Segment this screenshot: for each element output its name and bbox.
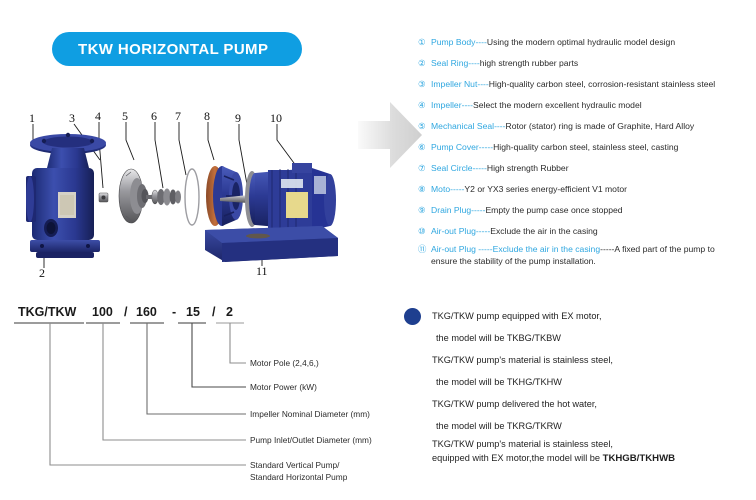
- code-label-motor-pole: Motor Pole (2,4,6,): [250, 358, 319, 368]
- part-separator: -----: [473, 159, 487, 177]
- part-description-blue: Exclude the air in the casing: [493, 244, 601, 254]
- callout-7: 7: [175, 109, 181, 123]
- impeller-nut-part: [99, 193, 108, 202]
- code-slash-1: /: [124, 305, 128, 319]
- part-row: ⑤ Mechanical Seal ---- Rotor (stator) ri…: [418, 117, 756, 135]
- part-row: ⑥ Pump Cover ----- High-quality carbon s…: [418, 138, 756, 156]
- note-line: TKG/TKW pump delivered the hot water,: [404, 393, 756, 415]
- model-code-breakdown: TKG/TKW 100 / 160 - 15 / 2: [12, 296, 392, 496]
- part-number: ⑦: [418, 159, 431, 177]
- note-line: the model will be TKBG/TKBW: [404, 327, 756, 349]
- part-name: Air-out Plug: [431, 244, 476, 254]
- code-label-standard-2: Standard Horizontal Pump: [250, 472, 348, 482]
- mechanical-seal-part: [146, 189, 181, 206]
- part-row: ④ Impeller ---- Select the modern excell…: [418, 96, 756, 114]
- part-name: Impeller: [431, 96, 462, 114]
- part-number: ⑤: [418, 117, 431, 135]
- part-description: Exclude the air in the casing: [490, 222, 598, 240]
- note-line: TKG/TKW pump's material is stainless ste…: [404, 437, 756, 451]
- part-row: ⑨ Drain Plug ----- Empty the pump case o…: [418, 201, 756, 219]
- code-segment-power: 15: [186, 305, 200, 319]
- note-line: the model will be TKRG/TKRW: [404, 415, 756, 437]
- code-labels: Motor Pole (2,4,6,) Motor Power (kW) Imp…: [250, 358, 372, 482]
- code-label-standard-1: Standard Vertical Pump/: [250, 460, 340, 470]
- part-description: Rotor (stator) ring is made of Graphite,…: [506, 117, 695, 135]
- part-name: Pump Cover: [431, 138, 479, 156]
- callout-11: 11: [256, 264, 268, 278]
- part-separator: -----: [471, 201, 485, 219]
- page-title: TKW HORIZONTAL PUMP: [52, 41, 268, 58]
- part-name: Mechanical Seal: [431, 117, 494, 135]
- note-final-model: TKHGB/TKHWB: [603, 453, 675, 464]
- part-name: Air-out Plug: [431, 222, 476, 240]
- part-name: Moto: [431, 180, 450, 198]
- code-label-motor-power: Motor Power (kW): [250, 382, 317, 392]
- part-separator: ----: [475, 33, 486, 51]
- part-number: ③: [418, 75, 431, 93]
- note-line-final: equipped with EX motor,the model will be…: [404, 451, 756, 465]
- part-row: ⑧ Moto ----- Y2 or YX3 series energy-eff…: [418, 180, 756, 198]
- part-number: ⑩: [418, 222, 431, 240]
- flow-arrow-icon: [358, 98, 424, 172]
- note-line: TKG/TKW pump equipped with EX motor,: [404, 305, 756, 327]
- part-description: Using the modern optimal hydraulic model…: [487, 33, 675, 51]
- part-description: High-quality carbon steel, corrosion-res…: [489, 75, 715, 93]
- callout-3: 3: [69, 111, 75, 125]
- bullet-icon: [404, 308, 421, 325]
- part-number: ②: [418, 54, 431, 72]
- code-dash: -: [172, 305, 176, 319]
- base-plate-part: [205, 226, 338, 262]
- seal-circle-part: [185, 169, 199, 225]
- part-description: Empty the pump case once stopped: [485, 201, 622, 219]
- part-separator: -----: [479, 138, 493, 156]
- title-banner: TKW HORIZONTAL PUMP: [52, 32, 302, 66]
- part-row: ② Seal Ring ---- high strength rubber pa…: [418, 54, 756, 72]
- code-slash-2: /: [212, 305, 216, 319]
- part-number: ⑪: [418, 243, 431, 255]
- code-segment-prefix: TKG/TKW: [18, 305, 77, 319]
- code-leader-lines: [50, 323, 246, 465]
- part-number: ④: [418, 96, 431, 114]
- part-separator: ----: [468, 54, 479, 72]
- part-number: ①: [418, 33, 431, 51]
- part-number: ⑥: [418, 138, 431, 156]
- exploded-pump-diagram: 1 2 3 4 5 6 7 8 9 10 11: [0, 95, 400, 290]
- code-segment-pole: 2: [226, 305, 233, 319]
- callout-2: 2: [39, 266, 45, 280]
- part-separator: ----: [477, 75, 488, 93]
- part-row: ③ Impeller Nut ---- High-quality carbon …: [418, 75, 756, 93]
- part-row: ⑦ Seal Circle ----- High strength Rubber: [418, 159, 756, 177]
- code-label-impeller-dia: Impeller Nominal Diameter (mm): [250, 409, 370, 419]
- callout-4: 4: [95, 109, 101, 123]
- callout-9: 9: [235, 111, 241, 125]
- code-label-inlet-outlet: Pump Inlet/Outlet Diameter (mm): [250, 435, 372, 445]
- part-description: High-quality carbon steel, stainless ste…: [493, 138, 678, 156]
- notes-block: TKG/TKW pump equipped with EX motor, the…: [404, 305, 756, 465]
- part-separator: -----: [476, 222, 490, 240]
- pump-cover-part: [206, 166, 243, 226]
- callout-5: 5: [122, 109, 128, 123]
- part-name: Pump Body: [431, 33, 475, 51]
- part-separator: ----: [462, 96, 473, 114]
- part-row: ⑩ Air-out Plug ----- Exclude the air in …: [418, 222, 756, 240]
- part-number: ⑧: [418, 180, 431, 198]
- model-code-text: TKG/TKW 100 / 160 - 15 / 2: [18, 305, 233, 319]
- part-name: Seal Circle: [431, 159, 473, 177]
- code-segment-impeller: 160: [136, 305, 157, 319]
- callout-10: 10: [270, 111, 282, 125]
- part-name: Drain Plug: [431, 201, 471, 219]
- part-separator: -----: [476, 244, 493, 254]
- code-segment-inlet: 100: [92, 305, 113, 319]
- part-description: Y2 or YX3 series energy-efficient V1 mot…: [464, 180, 627, 198]
- callout-1: 1: [29, 111, 35, 125]
- parts-list: ① Pump Body ---- Using the modern optima…: [418, 33, 756, 270]
- part-description-line2: ensure the stability of the pump install…: [418, 255, 715, 267]
- callout-6: 6: [151, 109, 157, 123]
- part-description-tail: -----A fixed part of the pump to: [600, 244, 715, 254]
- note-line: TKG/TKW pump's material is stainless ste…: [404, 349, 756, 371]
- part-row: ⑪Air-out Plug -----Exclude the air in th…: [418, 243, 756, 267]
- part-name: Impeller Nut: [431, 75, 477, 93]
- part-row: ① Pump Body ---- Using the modern optima…: [418, 33, 756, 51]
- part-separator: ----: [494, 117, 505, 135]
- part-number: ⑨: [418, 201, 431, 219]
- part-description: high strength rubber parts: [480, 54, 578, 72]
- page-root: TKW HORIZONTAL PUMP: [0, 0, 756, 500]
- part-description: Select the modern excellent hydraulic mo…: [473, 96, 642, 114]
- part-name: Seal Ring: [431, 54, 468, 72]
- impeller-part: [119, 169, 149, 223]
- note-final-prefix: equipped with EX motor,the model will be: [432, 453, 603, 463]
- part-description: High strength Rubber: [487, 159, 569, 177]
- part-separator: -----: [450, 180, 464, 198]
- callout-8: 8: [204, 109, 210, 123]
- note-line: the model will be TKHG/TKHW: [404, 371, 756, 393]
